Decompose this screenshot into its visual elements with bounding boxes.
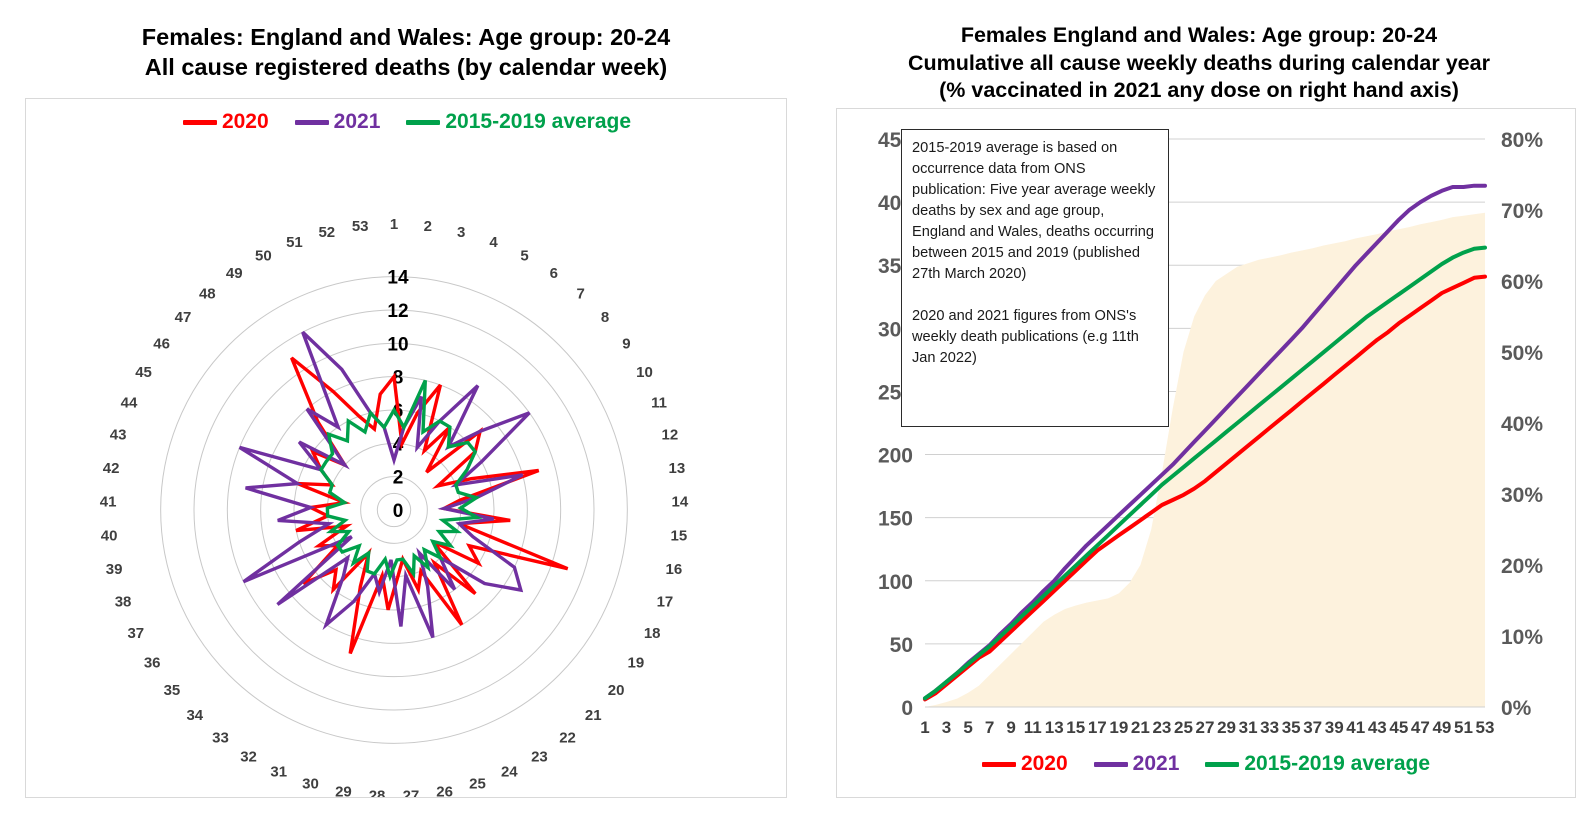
polar-chart-legend: 2020 2021 2015-2019 average [26,107,788,137]
cum-y2-tick: 60% [1501,271,1543,294]
polar-week-label: 46 [153,335,170,352]
polar-week-label: 37 [127,625,144,642]
cum-y-tick: 200 [878,445,913,468]
polar-radial-tick: 12 [387,301,408,322]
polar-week-label: 50 [255,248,272,265]
cum-x-tick: 29 [1217,718,1236,737]
left-panel: Females: England and Wales: Age group: 2… [0,0,812,828]
polar-radial-tick: 10 [387,334,408,355]
polar-week-label: 19 [627,655,644,672]
legend-item-average-cum[interactable]: 2015-2019 average [1205,752,1430,776]
cum-y2-tick: 70% [1501,200,1543,223]
polar-week-label: 49 [226,265,243,282]
polar-week-label: 15 [671,527,688,544]
cum-x-tick: 41 [1346,718,1365,737]
polar-chart-container: 2020 2021 2015-2019 average 024681012141… [25,98,787,798]
polar-week-label: 25 [469,776,486,793]
legend-swatch-2021-cum [1094,762,1128,767]
polar-week-label: 18 [644,625,661,642]
cum-x-tick: 3 [942,718,951,737]
cum-x-tick: 25 [1174,718,1193,737]
polar-chart-svg: 0246810121412345678910111213141516171819… [26,137,786,797]
polar-week-label: 24 [501,764,518,781]
polar-week-label: 4 [489,234,498,251]
polar-radial-tick: 0 [393,501,404,522]
legend-swatch-average [406,120,440,125]
cumulative-chart-legend: 2020 2021 2015-2019 average [837,749,1575,779]
legend-label-2020-cum: 2020 [1021,752,1068,776]
polar-week-label: 29 [335,783,352,797]
legend-item-2021[interactable]: 2021 [295,110,381,134]
cum-x-tick: 45 [1389,718,1408,737]
right-title-line1: Females England and Wales: Age group: 20… [812,22,1586,50]
cum-y-tick: 50 [890,634,913,657]
polar-week-label: 1 [390,216,398,233]
cum-x-tick: 9 [1006,718,1015,737]
legend-label-2021-cum: 2021 [1133,752,1180,776]
left-panel-title: Females: England and Wales: Age group: 2… [0,22,812,82]
polar-week-label: 12 [662,427,679,444]
legend-label-2021: 2021 [334,110,381,134]
cum-y2-tick: 10% [1501,626,1543,649]
cum-x-tick: 39 [1325,718,1344,737]
polar-week-label: 11 [651,395,667,412]
polar-week-label: 13 [669,460,686,477]
cum-x-tick: 17 [1088,718,1107,737]
right-title-line2: Cumulative all cause weekly deaths durin… [812,50,1586,78]
polar-week-label: 48 [199,285,216,302]
cum-y2-tick: 30% [1501,484,1543,507]
polar-week-label: 36 [144,655,161,672]
cum-x-tick: 51 [1454,718,1473,737]
polar-radial-tick: 14 [387,268,409,289]
legend-item-2020[interactable]: 2020 [183,110,269,134]
cum-x-tick: 7 [985,718,994,737]
right-title-line3: (% vaccinated in 2021 any dose on right … [812,77,1586,105]
polar-week-label: 33 [212,729,229,746]
cum-x-tick: 19 [1109,718,1128,737]
legend-item-average[interactable]: 2015-2019 average [406,110,631,134]
legend-swatch-average-cum [1205,762,1239,767]
polar-week-label: 53 [352,218,369,235]
polar-week-label: 43 [110,427,127,444]
legend-item-2021-cum[interactable]: 2021 [1094,752,1180,776]
polar-week-label: 8 [601,309,609,326]
polar-week-label: 21 [585,707,602,724]
polar-week-label: 34 [186,707,203,724]
cum-y2-tick: 20% [1501,555,1543,578]
polar-week-label: 51 [286,234,303,251]
polar-week-label: 10 [636,364,653,381]
polar-week-label: 39 [106,561,123,578]
cum-x-tick: 49 [1432,718,1451,737]
right-panel-title: Females England and Wales: Age group: 20… [812,22,1586,105]
polar-week-label: 38 [115,594,132,611]
cum-x-tick: 5 [963,718,972,737]
polar-week-label: 52 [318,224,335,241]
methodology-note: 2015-2019 average is based on occurrence… [901,129,1169,427]
cum-y2-tick: 80% [1501,129,1543,152]
cum-x-tick: 1 [920,718,929,737]
legend-item-2020-cum[interactable]: 2020 [982,752,1068,776]
cum-y-tick: 100 [878,571,913,594]
cum-x-tick: 35 [1282,718,1301,737]
polar-week-label: 28 [369,787,386,797]
dashboard-page: Females: England and Wales: Age group: 2… [0,0,1586,828]
polar-week-label: 16 [666,561,683,578]
polar-week-label: 41 [100,494,117,511]
cum-x-tick: 37 [1303,718,1322,737]
cum-x-tick: 13 [1045,718,1064,737]
cum-x-tick: 11 [1024,718,1042,737]
legend-swatch-2020 [183,120,217,125]
cum-x-tick: 15 [1066,718,1085,737]
cum-x-tick: 31 [1239,718,1258,737]
polar-week-label: 42 [103,460,120,477]
cum-x-tick: 47 [1411,718,1430,737]
polar-week-label: 14 [672,494,689,511]
polar-week-label: 31 [270,764,287,781]
cum-x-tick: 33 [1260,718,1279,737]
polar-week-label: 45 [135,364,152,381]
polar-week-label: 2 [424,218,432,235]
polar-week-label: 32 [240,748,257,765]
legend-label-2020: 2020 [222,110,269,134]
polar-week-label: 17 [657,594,674,611]
polar-week-label: 23 [531,748,548,765]
legend-swatch-2020-cum [982,762,1016,767]
cumulative-chart-container: 0501001502002503003504004500%10%20%30%40… [836,108,1576,798]
cum-y-tick: 150 [878,508,913,531]
left-title-line2: All cause registered deaths (by calendar… [0,52,812,82]
cum-x-tick: 23 [1152,718,1171,737]
polar-week-label: 20 [608,682,625,699]
cum-x-tick: 53 [1476,718,1495,737]
polar-week-label: 5 [520,248,528,265]
polar-week-label: 27 [403,787,420,797]
left-title-line1: Females: England and Wales: Age group: 2… [0,22,812,52]
cum-y2-tick: 0% [1501,697,1532,720]
polar-week-label: 9 [622,335,630,352]
polar-week-label: 44 [121,395,138,412]
polar-week-label: 40 [101,527,118,544]
cum-x-tick: 43 [1368,718,1387,737]
cum-y2-tick: 50% [1501,342,1543,365]
polar-week-label: 47 [175,309,192,326]
polar-week-label: 30 [302,776,319,793]
polar-radial-tick: 2 [393,468,404,489]
cum-y2-tick: 40% [1501,413,1543,436]
legend-label-average: 2015-2019 average [445,110,631,134]
cum-y-tick: 0 [901,697,913,720]
polar-week-label: 22 [559,729,576,746]
cum-x-tick: 21 [1131,718,1150,737]
polar-week-label: 35 [164,682,181,699]
polar-week-label: 7 [577,285,585,302]
legend-swatch-2021 [295,120,329,125]
right-panel: Females England and Wales: Age group: 20… [812,0,1586,828]
polar-week-label: 26 [436,783,453,797]
legend-label-average-cum: 2015-2019 average [1244,752,1430,776]
cum-x-tick: 27 [1196,718,1215,737]
polar-week-label: 3 [457,224,465,241]
polar-week-label: 6 [550,265,558,282]
